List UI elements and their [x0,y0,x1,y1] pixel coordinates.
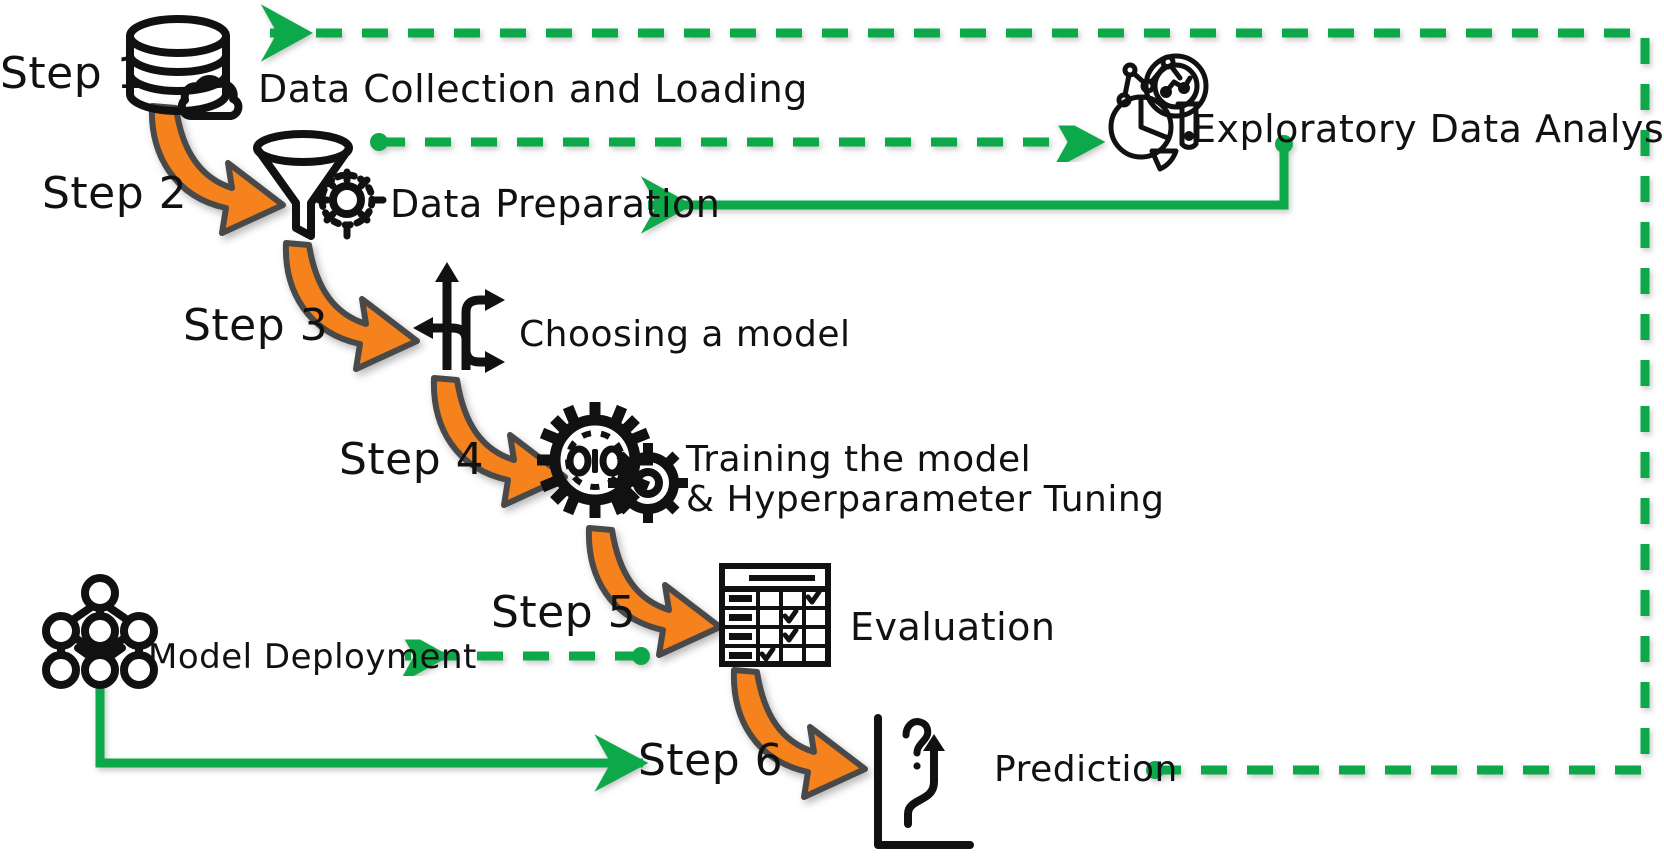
node-label-model-deployment: Model Deployment [148,638,477,676]
step-label-5: Step 5 [491,587,636,638]
branching-arrows-icon [413,262,505,373]
node-label-evaluation: Evaluation [850,606,1056,649]
step-label-6: Step 6 [638,735,783,786]
node-label-training: Training the model & Hyperparameter Tuni… [686,440,1165,521]
connector-deployment-to-step6 [100,681,643,763]
step-label-4: Step 4 [339,434,484,485]
step-label-2: Step 2 [42,168,187,219]
network-nodes-icon [46,578,154,685]
node-label-prediction: Prediction [994,750,1178,790]
node-label-data-preparation: Data Preparation [390,183,720,226]
node-label-data-collection: Data Collection and Loading [258,68,808,111]
step-label-1: Step 1 [0,48,145,99]
question-trend-icon [878,718,970,845]
step-label-3: Step 3 [183,300,328,351]
gears-binary-icon [537,402,688,523]
connector-prep-to-eda [370,133,1100,151]
ml-workflow-diagram: Step 1 Step 2 Step 3 Step 4 Step 5 Step … [0,0,1664,868]
checklist-table-icon [722,566,828,664]
node-label-choosing-model: Choosing a model [519,315,850,355]
funnel-gear-icon [257,134,383,236]
database-cloud-icon [130,19,238,116]
node-label-eda: Exploratory Data Analysis [1192,108,1664,151]
